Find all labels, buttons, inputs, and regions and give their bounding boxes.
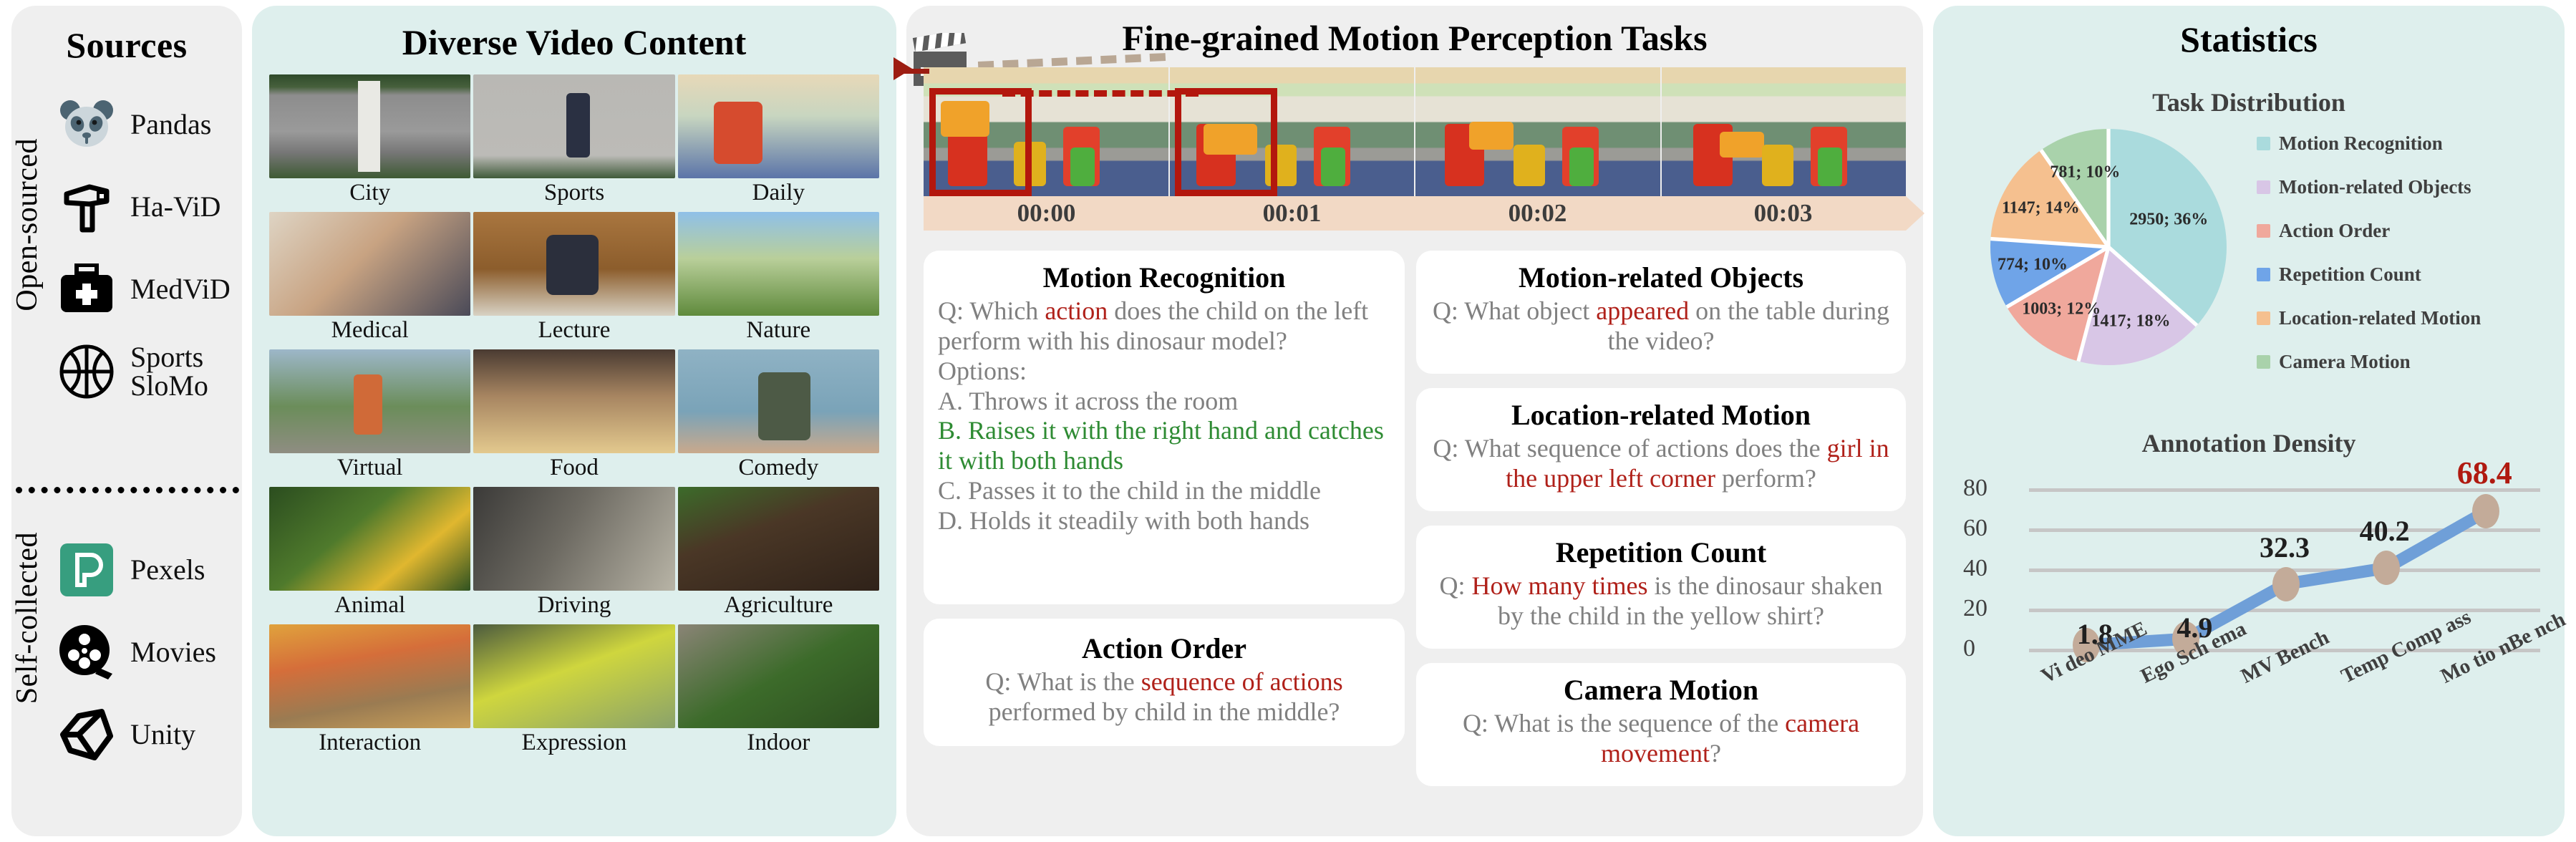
video-cell-label: City bbox=[269, 178, 470, 209]
pie-slice-label: 781; 10% bbox=[2050, 163, 2120, 183]
video-frame-2[interactable] bbox=[1415, 67, 1660, 196]
video-cell-animal[interactable]: Animal bbox=[269, 487, 470, 621]
video-cell-label: Sports bbox=[473, 178, 674, 209]
question-highlight: appeared bbox=[1596, 296, 1689, 325]
question-suffix: perform? bbox=[1715, 464, 1816, 493]
pexels-icon bbox=[56, 539, 117, 601]
medical-kit-icon bbox=[56, 258, 117, 320]
video-cell-label: Driving bbox=[473, 591, 674, 621]
film-reel-icon bbox=[56, 621, 117, 683]
data-point-marker[interactable] bbox=[2373, 551, 2400, 585]
sources-title: Sources bbox=[11, 24, 242, 66]
data-point-label: 68.4 bbox=[2457, 455, 2512, 491]
legend-item[interactable]: Motion Recognition bbox=[2257, 122, 2560, 165]
video-thumbnail bbox=[678, 212, 879, 316]
task-card-title: Camera Motion bbox=[1430, 673, 1892, 707]
video-cell-label: Daily bbox=[678, 178, 879, 209]
question-prefix: Q: Which bbox=[938, 296, 1045, 325]
source-label: Unity bbox=[130, 720, 195, 748]
tasks-title: Fine-grained Motion Perception Tasks bbox=[906, 6, 1923, 59]
group-label-open-sourced: Open-sourced bbox=[10, 138, 44, 311]
source-label: Pexels bbox=[130, 556, 205, 584]
video-cell-label: Animal bbox=[269, 591, 470, 621]
timeline-arrow-icon bbox=[1906, 196, 1924, 231]
data-point-marker[interactable] bbox=[2272, 567, 2300, 601]
panda-icon bbox=[56, 94, 117, 155]
task-question: Q: How many times is the dinosaur shaken… bbox=[1430, 571, 1892, 631]
legend-label: Location-related Motion bbox=[2279, 307, 2481, 329]
video-thumbnail bbox=[678, 74, 879, 178]
data-point-label: 40.2 bbox=[2360, 514, 2410, 548]
task-card-title: Action Order bbox=[938, 631, 1390, 665]
video-cell-label: Interaction bbox=[269, 728, 470, 759]
video-cell-indoor[interactable]: Indoor bbox=[678, 624, 879, 759]
source-item-pexels[interactable]: Pexels bbox=[56, 528, 241, 611]
pie-slice-label: 1417; 18% bbox=[2092, 312, 2171, 332]
sources-divider bbox=[16, 487, 239, 493]
source-item-movies[interactable]: Movies bbox=[56, 611, 241, 693]
sources-panel: Sources Open-sourced Self-collected bbox=[11, 6, 242, 836]
source-item-ha-vid[interactable]: Ha-ViD bbox=[56, 165, 241, 248]
video-thumbnail bbox=[678, 624, 879, 728]
video-content-title: Diverse Video Content bbox=[252, 21, 896, 63]
legend-label: Repetition Count bbox=[2279, 263, 2421, 286]
infographic-root: Sources Open-sourced Self-collected bbox=[0, 0, 2576, 842]
video-cell-virtual[interactable]: Virtual bbox=[269, 349, 470, 484]
task-card-camera-motion[interactable]: Camera Motion Q: What is the sequence of… bbox=[1416, 663, 1906, 786]
pie-slice-label: 1147; 14% bbox=[2002, 199, 2080, 218]
video-content-panel: Diverse Video Content City Sports Daily … bbox=[252, 6, 896, 836]
video-cell-driving[interactable]: Driving bbox=[473, 487, 674, 621]
legend-swatch bbox=[2257, 268, 2270, 281]
data-point-marker[interactable] bbox=[2472, 494, 2499, 528]
video-cell-lecture[interactable]: Lecture bbox=[473, 212, 674, 347]
video-thumbnail bbox=[473, 487, 674, 591]
task-question: Q: Which action does the child on the le… bbox=[938, 296, 1390, 357]
options-label: Options: bbox=[938, 357, 1390, 387]
task-card-repetition-count[interactable]: Repetition Count Q: How many times is th… bbox=[1416, 526, 1906, 649]
video-thumbnail bbox=[678, 487, 879, 591]
task-card-title: Repetition Count bbox=[1430, 536, 1892, 569]
legend-swatch bbox=[2257, 311, 2270, 325]
task-card-action-order[interactable]: Action Order Q: What is the sequence of … bbox=[924, 619, 1405, 746]
legend-label: Motion Recognition bbox=[2279, 132, 2443, 155]
question-highlight: sequence of actions bbox=[1141, 667, 1343, 696]
video-cell-food[interactable]: Food bbox=[473, 349, 674, 484]
source-item-unity[interactable]: Unity bbox=[56, 693, 241, 775]
video-cell-daily[interactable]: Daily bbox=[678, 74, 879, 209]
video-cell-label: Indoor bbox=[678, 728, 879, 759]
legend-swatch bbox=[2257, 137, 2270, 150]
question-prefix: Q: What object bbox=[1433, 296, 1596, 325]
video-cell-label: Virtual bbox=[269, 453, 470, 484]
region-link-dashed-line bbox=[1002, 90, 1199, 97]
video-frame-0[interactable] bbox=[924, 67, 1168, 196]
source-label: MedViD bbox=[130, 275, 231, 303]
question-prefix: Q: What sequence of actions does the bbox=[1433, 434, 1826, 463]
task-card-motion-recognition[interactable]: Motion Recognition Q: Which action does … bbox=[924, 251, 1405, 604]
video-cell-label: Expression bbox=[473, 728, 674, 759]
line-series bbox=[1959, 470, 2543, 684]
data-point-label: 32.3 bbox=[2260, 531, 2310, 564]
video-cell-label: Food bbox=[473, 453, 674, 484]
legend-label: Action Order bbox=[2279, 220, 2390, 242]
task-card-title: Motion Recognition bbox=[938, 261, 1390, 294]
task-question: Q: What sequence of actions does the gir… bbox=[1430, 433, 1892, 494]
task-question: Q: What is the sequence of the camera mo… bbox=[1430, 708, 1892, 769]
legend-label: Camera Motion bbox=[2279, 351, 2411, 373]
video-cell-label: Nature bbox=[678, 316, 879, 347]
task-question: Q: What object appeared on the table dur… bbox=[1430, 296, 1892, 357]
pie-slice-label: 1003; 12% bbox=[2022, 299, 2101, 319]
legend-swatch bbox=[2257, 180, 2270, 194]
pie-chart-legend: Motion RecognitionMotion-related Objects… bbox=[2257, 122, 2560, 384]
pie-slice-label: 2950; 36% bbox=[2129, 210, 2208, 230]
task-card-motion-related-objects[interactable]: Motion-related Objects Q: What object ap… bbox=[1416, 251, 1906, 374]
unity-icon bbox=[56, 704, 117, 765]
statistics-title: Statistics bbox=[1933, 6, 2565, 60]
task-cards-left-column: Motion Recognition Q: Which action does … bbox=[924, 251, 1405, 760]
source-label: Pandas bbox=[130, 110, 211, 138]
question-highlight: How many times bbox=[1472, 571, 1648, 600]
video-thumbnail bbox=[473, 349, 674, 453]
legend-item[interactable]: Motion-related Objects bbox=[2257, 165, 2560, 209]
task-question: Q: What is the sequence of actions perfo… bbox=[938, 667, 1390, 727]
task-cards-right-column: Motion-related Objects Q: What object ap… bbox=[1416, 251, 1906, 800]
video-cell-label: Agriculture bbox=[678, 591, 879, 621]
video-filmstrip bbox=[924, 67, 1906, 196]
question-prefix: Q: What is the bbox=[985, 667, 1141, 696]
self-collected-list: Pexels Movies bbox=[56, 528, 241, 775]
hammer-icon bbox=[56, 176, 117, 238]
video-thumbnail bbox=[473, 212, 674, 316]
source-label: Movies bbox=[130, 638, 216, 666]
video-cell-interaction[interactable]: Interaction bbox=[269, 624, 470, 759]
option-c[interactable]: C. Passes it to the child in the middle bbox=[938, 476, 1390, 506]
video-thumbnail bbox=[473, 74, 674, 178]
video-cell-label: Lecture bbox=[473, 316, 674, 347]
legend-swatch bbox=[2257, 224, 2270, 238]
question-suffix: ? bbox=[1710, 739, 1721, 768]
source-label: Sports SloMo bbox=[130, 343, 208, 399]
video-cell-comedy[interactable]: Comedy bbox=[678, 349, 879, 484]
source-item-medvid[interactable]: MedViD bbox=[56, 248, 241, 330]
task-card-location-related-motion[interactable]: Location-related Motion Q: What sequence… bbox=[1416, 388, 1906, 511]
flow-arrow-line bbox=[901, 69, 929, 74]
legend-item[interactable]: Camera Motion bbox=[2257, 340, 2560, 384]
task-card-title: Location-related Motion bbox=[1430, 398, 1892, 432]
open-sourced-list: Pandas Ha-ViD bbox=[56, 83, 241, 412]
line-chart-title: Annotation Density bbox=[1933, 428, 2565, 458]
timestamp-1: 00:01 bbox=[1169, 199, 1415, 228]
source-item-pandas[interactable]: Pandas bbox=[56, 83, 241, 165]
timestamp-2: 00:02 bbox=[1415, 199, 1660, 228]
video-thumbnail bbox=[269, 624, 470, 728]
legend-item[interactable]: Repetition Count bbox=[2257, 253, 2560, 296]
question-prefix: Q: bbox=[1440, 571, 1472, 600]
option-a[interactable]: A. Throws it across the room bbox=[938, 387, 1390, 417]
video-cell-agriculture[interactable]: Agriculture bbox=[678, 487, 879, 621]
question-suffix: performed by child in the middle? bbox=[989, 697, 1340, 726]
legend-item[interactable]: Location-related Motion bbox=[2257, 296, 2560, 340]
annotation-density-chart: 0204060801.8Vi deo MME4.9Ego Sch ema32.3… bbox=[1959, 470, 2543, 713]
basketball-icon bbox=[56, 341, 117, 402]
source-label: Ha-ViD bbox=[130, 193, 221, 221]
video-cell-city[interactable]: City bbox=[269, 74, 470, 209]
video-cell-label: Medical bbox=[269, 316, 470, 347]
source-item-sports-slomo[interactable]: Sports SloMo bbox=[56, 330, 241, 412]
video-thumbnail bbox=[269, 487, 470, 591]
video-thumbnail bbox=[269, 212, 470, 316]
pie-slice-label: 774; 10% bbox=[1998, 255, 2068, 274]
pie-chart: 2950; 36%1417; 18%1003; 12%774; 10%1147;… bbox=[1957, 113, 2258, 400]
video-cell-sports[interactable]: Sports bbox=[473, 74, 674, 209]
timestamp-3: 00:03 bbox=[1660, 199, 1906, 228]
video-cell-label: Comedy bbox=[678, 453, 879, 484]
legend-item[interactable]: Action Order bbox=[2257, 209, 2560, 253]
video-thumbnail bbox=[269, 74, 470, 178]
video-thumbnail bbox=[473, 624, 674, 728]
video-thumbnail bbox=[269, 349, 470, 453]
video-timeline[interactable]: 00:00 00:01 00:02 00:03 bbox=[924, 196, 1906, 231]
video-thumbnail-grid: City Sports Daily Medical Lecture Nature bbox=[269, 74, 879, 759]
video-cell-medical[interactable]: Medical bbox=[269, 212, 470, 347]
question-highlight: action bbox=[1045, 296, 1108, 325]
task-card-title: Motion-related Objects bbox=[1430, 261, 1892, 294]
video-cell-nature[interactable]: Nature bbox=[678, 212, 879, 347]
option-b[interactable]: B. Raises it with the right hand and cat… bbox=[938, 416, 1390, 476]
video-frame-3[interactable] bbox=[1662, 67, 1907, 196]
question-prefix: Q: What is the sequence of the bbox=[1463, 709, 1785, 737]
tasks-panel: Fine-grained Motion Perception Tasks bbox=[906, 6, 1923, 836]
statistics-panel: Statistics Task Distribution 2950; 36%14… bbox=[1933, 6, 2565, 836]
video-cell-expression[interactable]: Expression bbox=[473, 624, 674, 759]
timestamp-0: 00:00 bbox=[924, 199, 1169, 228]
option-d[interactable]: D. Holds it steadily with both hands bbox=[938, 506, 1390, 536]
legend-swatch bbox=[2257, 355, 2270, 369]
video-thumbnail bbox=[678, 349, 879, 453]
video-frame-1[interactable] bbox=[1170, 67, 1415, 196]
group-label-self-collected: Self-collected bbox=[10, 532, 44, 704]
legend-label: Motion-related Objects bbox=[2279, 176, 2471, 198]
